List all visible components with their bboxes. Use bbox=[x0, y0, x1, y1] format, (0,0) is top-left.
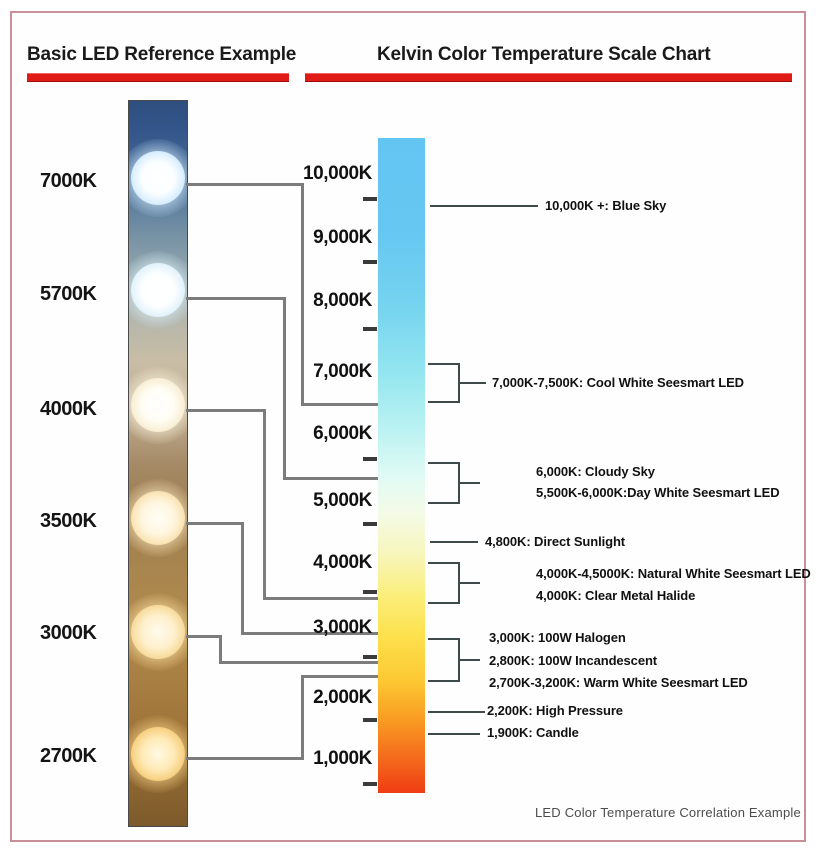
right-panel-title: Kelvin Color Temperature Scale Chart bbox=[377, 44, 711, 66]
scale-tick-8500 bbox=[363, 260, 377, 264]
annotation-incandescent: 2,800K: 100W Incandescent bbox=[489, 653, 657, 668]
connector-3000k-v bbox=[219, 635, 222, 663]
bracket-cool-white bbox=[428, 363, 460, 403]
scale-label-2000k: 2,000K bbox=[252, 687, 372, 709]
scale-label-4000k: 4,000K bbox=[252, 552, 372, 574]
annotation-natural-white-led: 4,000K-4,5000K: Natural White Seesmart L… bbox=[536, 566, 811, 581]
scale-tick-500 bbox=[363, 782, 377, 786]
scale-label-3000k: 3,000K bbox=[252, 617, 372, 639]
annotation-warm-white-led: 2,700K-3,200K: Warm White Seesmart LED bbox=[489, 675, 748, 690]
led-label-4000k: 4000K bbox=[40, 398, 126, 421]
scale-label-6000k: 6,000K bbox=[252, 423, 372, 445]
scale-tick-9500 bbox=[363, 197, 377, 201]
scale-tick-3500 bbox=[363, 590, 377, 594]
kelvin-gradient-bar bbox=[378, 138, 425, 793]
led-dot-3000k bbox=[131, 605, 185, 659]
scale-label-8000k: 8,000K bbox=[252, 290, 372, 312]
scale-label-5000k: 5,000K bbox=[252, 490, 372, 512]
kelvin-scale-labels: 10,000K 9,000K 8,000K 7,000K 6,000K 5,00… bbox=[248, 0, 372, 855]
scale-tick-5500 bbox=[363, 457, 377, 461]
kelvin-color-temperature-infographic: Basic LED Reference Example Kelvin Color… bbox=[0, 0, 818, 855]
annotation-cool-white-led: 7,000K-7,500K: Cool White Seesmart LED bbox=[492, 375, 744, 390]
led-strip-photo bbox=[128, 100, 188, 827]
annotation-clear-metal-halide: 4,000K: Clear Metal Halide bbox=[536, 588, 695, 603]
scale-tick-4500 bbox=[363, 522, 377, 526]
annotation-blue-sky: 10,000K +: Blue Sky bbox=[545, 198, 666, 213]
annotation-direct-sunlight: 4,800K: Direct Sunlight bbox=[485, 534, 625, 549]
scale-label-10000k: 10,000K bbox=[252, 163, 372, 185]
leader-candle bbox=[428, 733, 480, 735]
scale-label-7000k: 7,000K bbox=[252, 361, 372, 383]
led-dot-7000k bbox=[131, 151, 185, 205]
led-label-5700k: 5700K bbox=[40, 283, 126, 306]
leader-cool-white bbox=[458, 382, 486, 384]
bracket-natural-white bbox=[428, 562, 460, 604]
leader-natural-white bbox=[458, 582, 480, 584]
right-title-rule bbox=[305, 73, 792, 82]
leader-high-pressure bbox=[428, 711, 485, 713]
footer-caption: LED Color Temperature Correlation Exampl… bbox=[535, 805, 801, 820]
scale-tick-7500 bbox=[363, 327, 377, 331]
led-dot-4000k bbox=[131, 378, 185, 432]
leader-blue-sky bbox=[430, 205, 538, 207]
connector-3500k-h1 bbox=[186, 522, 244, 525]
scale-tick-1500 bbox=[363, 718, 377, 722]
annotation-halogen: 3,000K: 100W Halogen bbox=[489, 630, 626, 645]
leader-direct-sunlight bbox=[430, 541, 478, 543]
connector-3000k-h1 bbox=[186, 635, 222, 638]
led-label-2700k: 2700K bbox=[40, 745, 126, 768]
led-dot-3500k bbox=[131, 491, 185, 545]
annotation-candle: 1,900K: Candle bbox=[487, 725, 579, 740]
annotation-cloudy-sky: 6,000K: Cloudy Sky bbox=[536, 464, 655, 479]
annotation-high-pressure: 2,200K: High Pressure bbox=[487, 703, 623, 718]
scale-label-9000k: 9,000K bbox=[252, 227, 372, 249]
led-dot-2700k bbox=[131, 727, 185, 781]
leader-warm-white bbox=[458, 659, 480, 661]
annotation-day-white-led: 5,500K-6,000K:Day White Seesmart LED bbox=[536, 485, 780, 500]
led-label-7000k: 7000K bbox=[40, 170, 126, 193]
scale-tick-2500 bbox=[363, 655, 377, 659]
connector-3500k-v bbox=[241, 522, 244, 634]
led-dot-5700k bbox=[131, 263, 185, 317]
led-label-3000k: 3000K bbox=[40, 622, 126, 645]
scale-label-1000k: 1,000K bbox=[252, 748, 372, 770]
leader-cloudy-day-white bbox=[458, 482, 480, 484]
bracket-cloudy-day-white bbox=[428, 462, 460, 504]
led-label-3500k: 3500K bbox=[40, 510, 126, 533]
bracket-warm-white bbox=[428, 638, 460, 682]
